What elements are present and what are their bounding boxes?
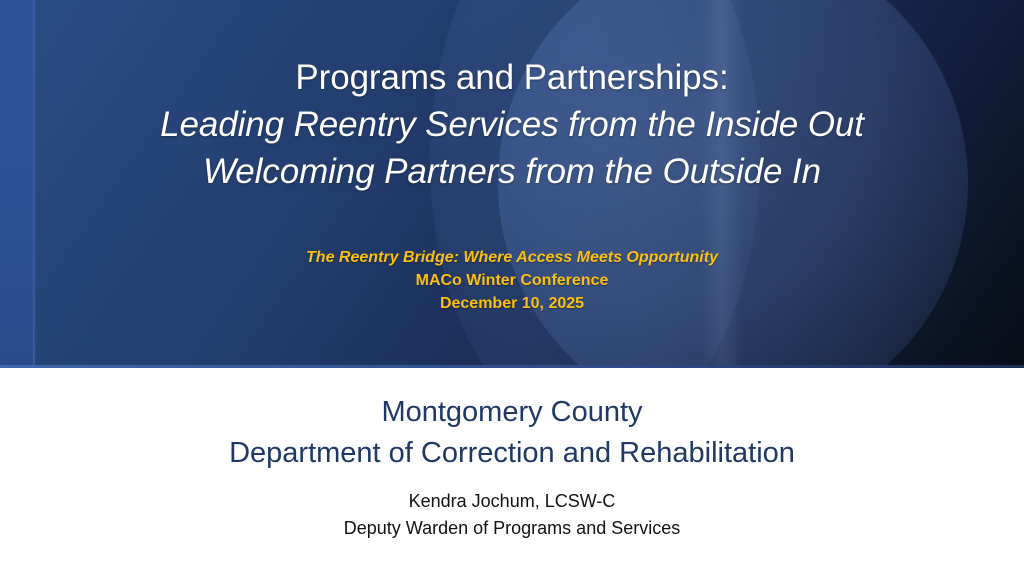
presenter-line-1: Kendra Jochum, LCSW-C xyxy=(162,488,862,515)
presenter-name: Kendra Jochum, LCSW-C Deputy Warden of P… xyxy=(162,488,862,542)
title-line-3: Welcoming Partners from the Outside In xyxy=(0,148,1024,195)
subtitle-date: December 10, 2025 xyxy=(0,292,1024,315)
slide-footer: Montgomery County Department of Correcti… xyxy=(0,368,1024,576)
organization-line-2: Department of Correction and Rehabilitat… xyxy=(162,433,862,474)
organization-name: Montgomery County Department of Correcti… xyxy=(162,392,862,474)
slide-title: Programs and Partnerships: Leading Reent… xyxy=(0,54,1024,195)
presenter-line-2: Deputy Warden of Programs and Services xyxy=(162,515,862,542)
title-line-1: Programs and Partnerships: xyxy=(0,54,1024,101)
subtitle-conference-name: MACo Winter Conference xyxy=(0,269,1024,292)
title-line-2: Leading Reentry Services from the Inside… xyxy=(0,101,1024,148)
organization-line-1: Montgomery County xyxy=(162,392,862,433)
title-slide: Programs and Partnerships: Leading Reent… xyxy=(0,0,1024,576)
subtitle-event-theme: The Reentry Bridge: Where Access Meets O… xyxy=(0,246,1024,269)
slide-subtitle: The Reentry Bridge: Where Access Meets O… xyxy=(0,246,1024,315)
